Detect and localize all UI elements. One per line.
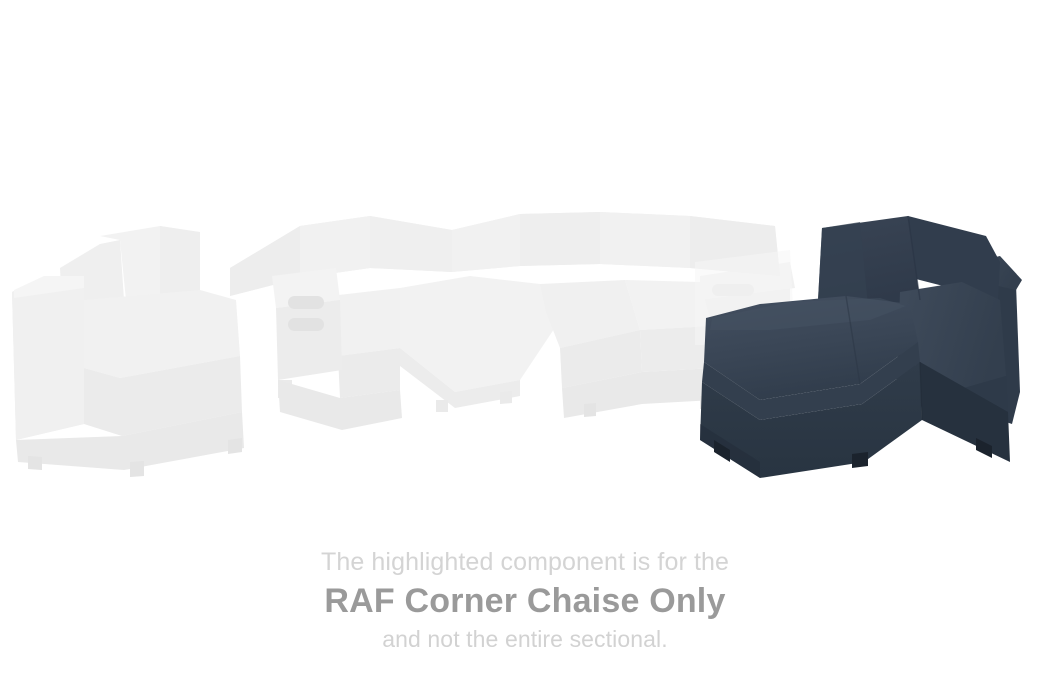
caption-line-disclaimer: and not the entire sectional.	[0, 623, 1050, 655]
sectional-illustration-svg	[0, 0, 1050, 520]
ghost-module-wedge-corner	[400, 276, 560, 412]
ghost-cupholder-bottom	[288, 318, 324, 331]
ghost-leg	[28, 456, 42, 470]
ghost-leg	[228, 438, 242, 454]
caption-line-component-name: RAF Corner Chaise Only	[0, 579, 1050, 623]
caption-line-intro: The highlighted component is for the	[0, 545, 1050, 579]
product-image-card: The highlighted component is for the RAF…	[0, 0, 1050, 700]
ghost-leg	[584, 403, 596, 417]
ghost-sectional-group	[12, 212, 795, 477]
chaise-back-cushion-left-fold	[818, 222, 868, 306]
sectional-illustration	[0, 0, 1050, 520]
ghost-backrest-left-run	[230, 216, 452, 296]
ghost-module-armless-right-a	[540, 280, 642, 388]
chaise-leg-front-right	[852, 452, 868, 468]
ghost-cupholder-top	[288, 296, 324, 309]
caption-block: The highlighted component is for the RAF…	[0, 545, 1050, 655]
ghost-leg	[130, 461, 144, 477]
ghost-module-console-left	[272, 268, 342, 398]
ghost-module-laf-loveseat	[12, 276, 244, 477]
